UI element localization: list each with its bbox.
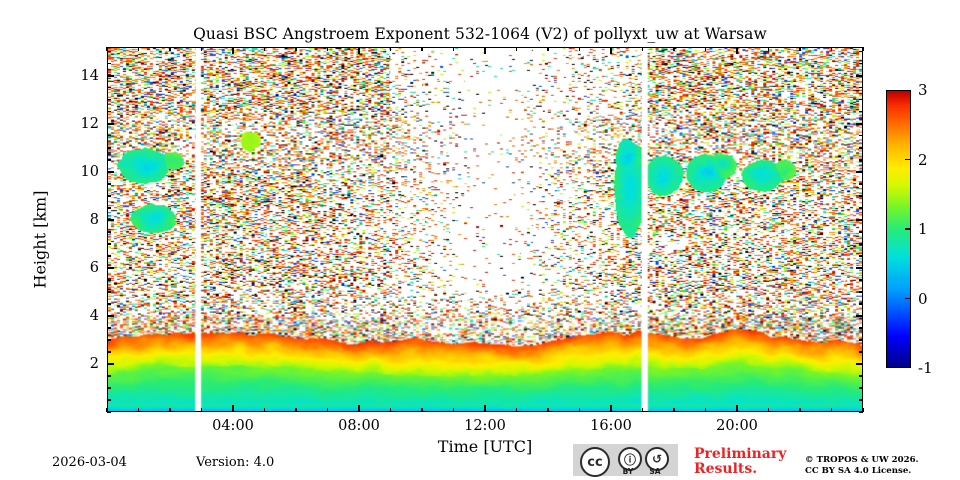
y-tick-minor-right [859,207,863,208]
y-tick-minor-right [859,327,863,328]
y-tick-minor-right [859,51,863,52]
x-tick-minor [453,408,454,412]
x-tick-minor [768,408,769,412]
colorbar-tick-label: -1 [918,359,933,377]
y-tick-minor-right [859,387,863,388]
y-tick-minor-right [859,63,863,64]
x-tick-minor [169,408,170,412]
y-axis-title: Height [km] [31,160,50,320]
footer-version: Version: 4.0 [196,455,274,470]
figure-panel: Quasi BSC Angstroem Exponent 532-1064 (V… [0,0,960,480]
preliminary-results-notice: Preliminary Results. [694,447,804,477]
x-tick-label: 20:00 [716,418,758,434]
x-tick-minor [138,408,139,412]
y-tick-minor [107,111,111,112]
y-tick-minor-right [859,111,863,112]
colorbar-tick [905,298,911,300]
y-tick-minor [107,207,111,208]
colorbar-tick-label: 2 [918,151,928,169]
y-tick-minor [107,375,111,376]
x-tick-minor-top [642,47,643,51]
creative-commons-badge[interactable]: cc ⓘ ↺ BY SA [573,444,678,476]
y-tick-minor-right [859,243,863,244]
y-tick-label: 4 [59,308,99,324]
y-tick-major [107,219,114,221]
y-tick-minor [107,231,111,232]
y-tick-minor-right [859,99,863,100]
x-tick-minor [705,408,706,412]
y-tick-major-right [856,123,863,125]
x-tick-minor-top [579,47,580,51]
y-tick-minor [107,63,111,64]
x-tick-minor-top [327,47,328,51]
colorbar-tick [905,159,911,161]
x-tick-minor [516,408,517,412]
y-tick-major-right [856,171,863,173]
x-tick-major [484,405,486,412]
cc-icon: cc [580,447,610,477]
y-tick-minor [107,303,111,304]
y-tick-major [107,75,114,77]
y-tick-minor [107,51,111,52]
x-tick-major [232,405,234,412]
cc-sa-label: SA [642,467,668,476]
x-tick-label: 12:00 [464,418,506,434]
x-tick-label: 16:00 [590,418,632,434]
y-tick-minor [107,243,111,244]
colorbar-tick-label: 1 [918,220,928,238]
x-tick-minor-top [453,47,454,51]
y-tick-major [107,267,114,269]
y-tick-minor-right [859,351,863,352]
y-tick-label: 10 [59,164,99,180]
x-tick-major [358,405,360,412]
x-tick-minor-top [516,47,517,51]
y-tick-minor [107,135,111,136]
x-tick-minor-top [295,47,296,51]
x-tick-minor [547,408,548,412]
y-tick-minor [107,411,111,412]
y-tick-minor [107,87,111,88]
copyright-line-2: CC BY SA 4.0 License. [805,466,955,477]
x-tick-major-top [610,47,612,54]
y-tick-label: 2 [59,356,99,372]
colorbar-tick-label: 3 [918,81,928,99]
x-tick-minor [327,408,328,412]
x-tick-minor-top [547,47,548,51]
y-tick-major-right [856,219,863,221]
y-tick-minor [107,255,111,256]
preliminary-line-1: Preliminary [694,447,804,462]
y-tick-label: 6 [59,260,99,276]
x-tick-minor [390,408,391,412]
x-tick-minor-top [768,47,769,51]
y-tick-label: 8 [59,212,99,228]
x-tick-minor [799,408,800,412]
y-tick-major [107,171,114,173]
y-tick-minor-right [859,303,863,304]
x-tick-major-top [358,47,360,54]
y-tick-minor [107,159,111,160]
y-tick-minor [107,195,111,196]
x-tick-minor [295,408,296,412]
y-tick-minor [107,327,111,328]
y-tick-label: 14 [59,68,99,84]
x-tick-minor [201,408,202,412]
y-tick-minor [107,387,111,388]
y-tick-minor [107,399,111,400]
y-tick-major-right [856,267,863,269]
x-tick-minor [831,408,832,412]
x-tick-minor-top [799,47,800,51]
y-tick-minor-right [859,87,863,88]
y-tick-minor-right [859,255,863,256]
y-tick-label: 12 [59,116,99,132]
y-tick-minor-right [859,339,863,340]
y-tick-minor-right [859,375,863,376]
y-tick-minor-right [859,183,863,184]
colorbar-tick-label: 0 [918,290,928,308]
y-tick-minor-right [859,411,863,412]
x-tick-label: 04:00 [212,418,254,434]
footer-date: 2026-03-04 [52,455,127,470]
copyright-notice: © TROPOS & UW 2026. CC BY SA 4.0 License… [805,455,955,477]
y-tick-minor [107,183,111,184]
x-tick-minor-top [390,47,391,51]
y-tick-minor [107,99,111,100]
x-tick-major-top [232,47,234,54]
x-tick-minor [642,408,643,412]
cc-by-label: BY [615,467,641,476]
y-tick-minor-right [859,159,863,160]
x-tick-minor [421,408,422,412]
y-tick-minor-right [859,231,863,232]
y-tick-minor-right [859,279,863,280]
y-tick-minor [107,351,111,352]
x-tick-minor-top [169,47,170,51]
heatmap-plot-area [107,47,863,412]
x-tick-minor-top [138,47,139,51]
y-tick-minor [107,339,111,340]
y-tick-minor-right [859,195,863,196]
y-tick-minor-right [859,291,863,292]
y-tick-major [107,363,114,365]
y-tick-minor [107,279,111,280]
x-tick-minor-top [264,47,265,51]
colorbar-tick [905,228,911,230]
y-tick-minor-right [859,135,863,136]
x-tick-minor-top [705,47,706,51]
page-title: Quasi BSC Angstroem Exponent 532-1064 (V… [0,25,960,43]
y-tick-minor-right [859,399,863,400]
x-tick-minor [264,408,265,412]
y-tick-major-right [856,363,863,365]
x-tick-major [736,405,738,412]
heatmap-canvas [108,48,862,411]
x-tick-label: 08:00 [338,418,380,434]
y-tick-minor-right [859,147,863,148]
x-tick-major [610,405,612,412]
y-tick-minor [107,147,111,148]
y-tick-minor [107,291,111,292]
y-tick-major-right [856,75,863,77]
x-tick-minor-top [831,47,832,51]
x-tick-major-top [484,47,486,54]
y-tick-major [107,123,114,125]
copyright-line-1: © TROPOS & UW 2026. [805,455,955,466]
x-tick-major-top [736,47,738,54]
y-tick-major [107,315,114,317]
x-tick-minor-top [673,47,674,51]
x-tick-minor [579,408,580,412]
x-tick-minor-top [201,47,202,51]
x-tick-minor-top [421,47,422,51]
y-tick-major-right [856,315,863,317]
preliminary-line-2: Results. [694,462,804,477]
x-tick-minor [673,408,674,412]
